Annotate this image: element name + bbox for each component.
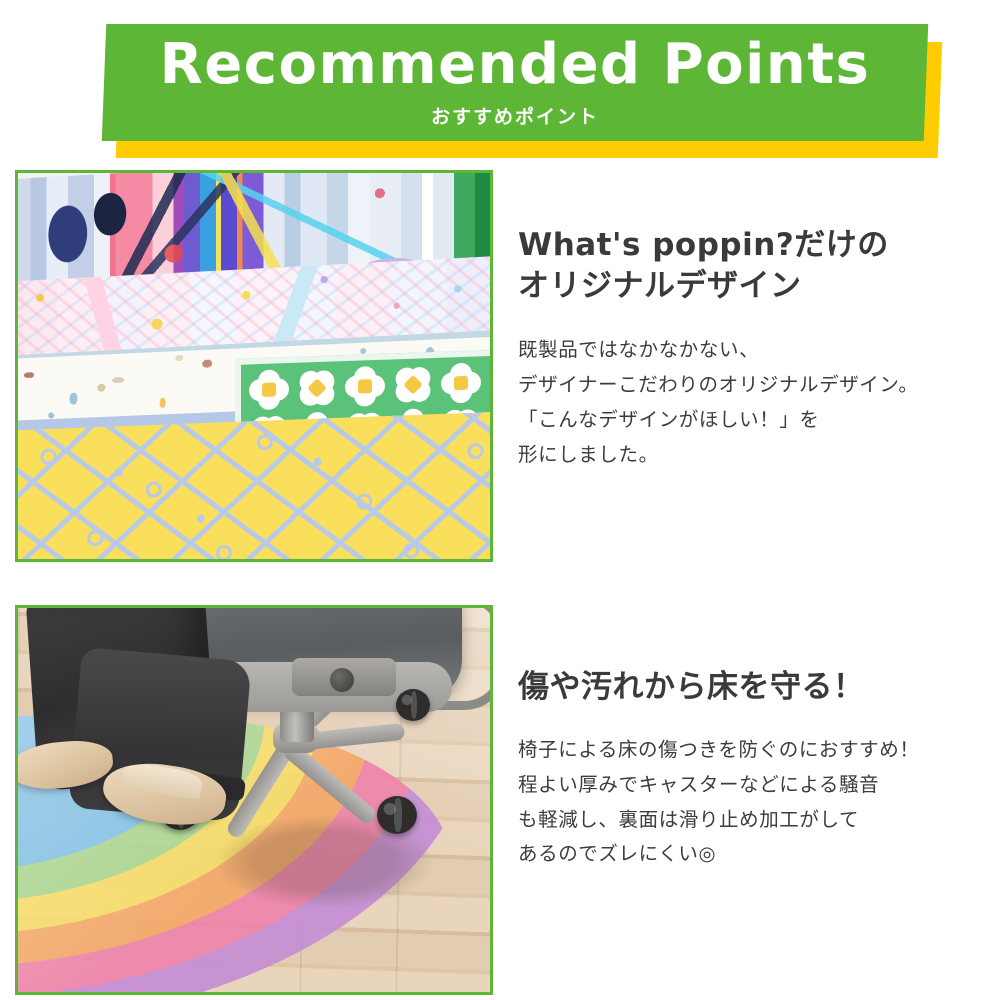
section-1-text-column: What's poppin?だけのオリジナルデザイン 既製品ではなかなかない、デ… (518, 225, 988, 472)
section-2-body: 椅子による床の傷つきを防ぐのにおすすめ！程よい厚みでキャスターなどによる騒音も軽… (518, 733, 988, 872)
page-title: Recommended Points (160, 37, 871, 93)
section-1-body-line-2: デザイナーこだわりのオリジナルデザイン。 (518, 374, 918, 396)
section-1-heading: What's poppin?だけのオリジナルデザイン (518, 225, 988, 307)
chair-caster (396, 689, 430, 721)
flower-motif (289, 360, 346, 417)
chair-adjust-knob (330, 668, 354, 692)
section-1-body-line-4: 形にしました。 (518, 444, 659, 466)
section-2-heading: 傷や汚れから床を守る！ (518, 667, 988, 708)
photo-stacked-chair-mats (18, 173, 490, 559)
section-1-body-line-1: 既製品ではなかなかない、 (518, 339, 759, 361)
section-1-body: 既製品ではなかなかない、デザイナーこだわりのオリジナルデザイン。「こんなデザイン… (518, 333, 988, 472)
section-2-body-line-4: あるのでズレにくい◎ (518, 843, 716, 865)
section-1-heading-line-1: What's poppin?だけの (518, 227, 889, 263)
photo-chair-on-mat (18, 608, 490, 992)
photo-frame-mats (15, 170, 493, 562)
flower-motif (481, 353, 490, 410)
section-1-body-line-3: 「こんなデザインがほしい！」を (518, 409, 820, 431)
page-subtitle: おすすめポイント (431, 102, 599, 129)
section-1-heading-line-2: オリジナルデザイン (518, 268, 802, 304)
banner-text-group: Recommended Points おすすめポイント (104, 24, 926, 141)
page-header-banner: Recommended Points おすすめポイント (0, 0, 1000, 175)
mat-yellow-squiggle (18, 409, 490, 559)
feature-section-original-design: What's poppin?だけのオリジナルデザイン 既製品ではなかなかない、デ… (0, 170, 1000, 562)
section-2-text-column: 傷や汚れから床を守る！ 椅子による床の傷つきを防ぐのにおすすめ！程よい厚みでキャ… (518, 667, 988, 872)
section-2-body-line-1: 椅子による床の傷つきを防ぐのにおすすめ！ (518, 739, 919, 761)
chair-caster (377, 796, 417, 834)
flower-motif (385, 357, 442, 414)
feature-section-floor-protection: 傷や汚れから床を守る！ 椅子による床の傷つきを防ぐのにおすすめ！程よい厚みでキャ… (0, 605, 1000, 995)
photo-frame-chair (15, 605, 493, 995)
section-2-body-line-2: 程よい厚みでキャスターなどによる騒音 (518, 774, 879, 796)
section-2-body-line-3: も軽減し、裏面は滑り止め加工がして (518, 809, 859, 831)
